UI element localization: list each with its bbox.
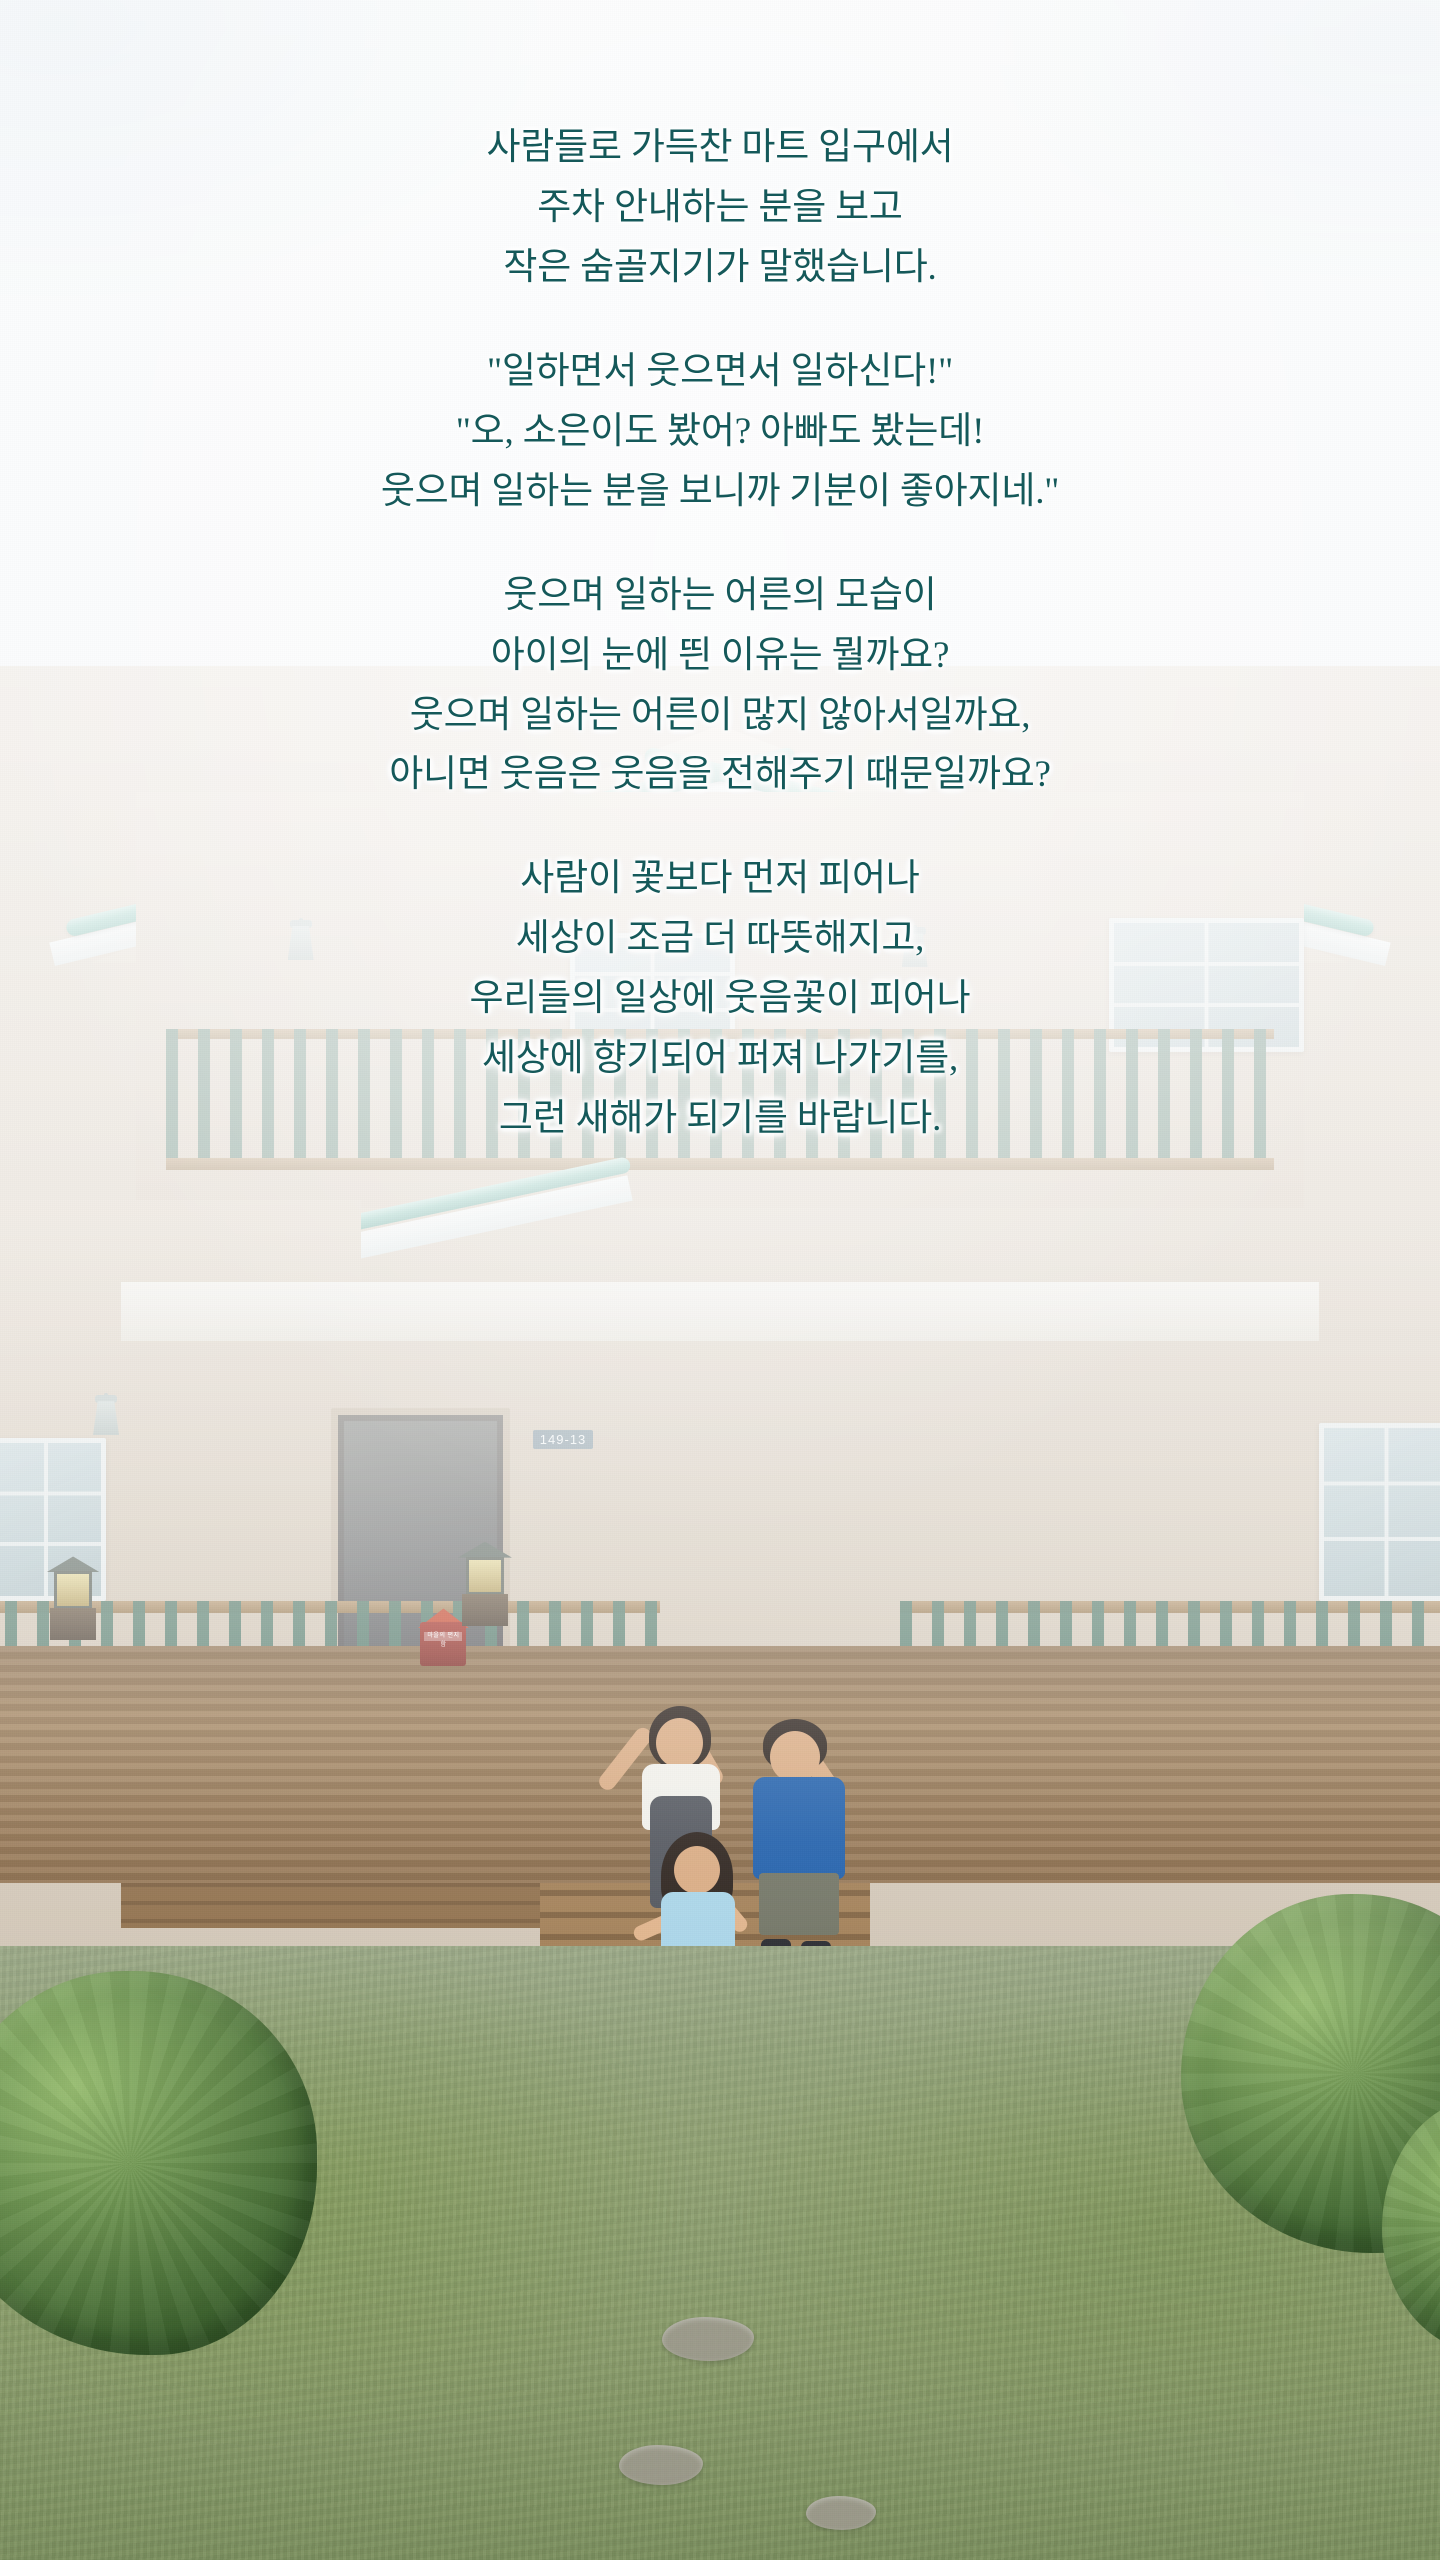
poem-stanza-3: 웃으며 일하는 어른의 모습이 아이의 눈에 띈 이유는 뭘까요? 웃으며 일하… [70,566,1370,806]
mother-head [656,1718,703,1768]
lamp-shade [93,1401,119,1435]
poem-stanza-4: 사람이 꽃보다 먼저 피어나 세상이 조금 더 따뜻해지고, 우리들의 일상에 … [70,849,1370,1149]
lantern-glass [54,1571,92,1609]
poem-line: 사람이 꽃보다 먼저 피어나 [70,849,1370,909]
poem-line: 작은 숨골지기가 말했습니다. [70,238,1370,298]
mailbox-label: 마을의 편지함 [424,1632,462,1641]
poem-overlay: 사람들로 가득찬 마트 입구에서 주차 안내하는 분을 보고 작은 숨골지기가 … [0,0,1440,1149]
house-number-plate: 149-13 [533,1430,593,1449]
photo-card: 149-13 [0,0,1440,2560]
lantern-cap [46,1556,100,1572]
post-lantern-left [46,1556,100,1642]
poem-line: 사람들로 가득찬 마트 입구에서 [70,118,1370,178]
poem-line: 아니면 웃음은 웃음을 전해주기 때문일까요? [70,745,1370,805]
wall-lamp-ground-left [91,1393,121,1445]
lantern-post [462,1594,508,1626]
father-head [770,1731,820,1783]
lantern-post [50,1608,96,1640]
poem-line: 웃으며 일하는 어른이 많지 않아서일까요, [70,686,1370,746]
poem-line: "일하면서 웃으면서 일하신다!" [70,342,1370,402]
poem-line: 주차 안내하는 분을 보고 [70,178,1370,238]
person-father [739,1715,859,1951]
poem-stanza-2: "일하면서 웃으면서 일하신다!" "오, 소은이도 봤어? 아빠도 봤는데! … [70,342,1370,522]
poem-line: 아이의 눈에 띈 이유는 뭘까요? [70,626,1370,686]
poem-line: 세상이 조금 더 따뜻해지고, [70,909,1370,969]
poem-line: "오, 소은이도 봤어? 아빠도 봤는데! [70,402,1370,462]
stepping-stone-2 [619,2445,703,2485]
post-lantern-center [458,1542,512,1628]
poem-stanza-1: 사람들로 가득찬 마트 입구에서 주차 안내하는 분을 보고 작은 숨골지기가 … [70,118,1370,298]
poem-line: 웃으며 일하는 분을 보니까 기분이 좋아지네." [70,462,1370,522]
poem-line: 그런 새해가 되기를 바랍니다. [70,1089,1370,1149]
poem-line: 우리들의 일상에 웃음꽃이 피어나 [70,969,1370,1029]
ground-window-right [1319,1423,1440,1601]
lantern-cap [458,1542,512,1558]
poem-line: 웃으며 일하는 어른의 모습이 [70,566,1370,626]
stepping-stone-1 [662,2317,754,2361]
father-blue-polo [753,1777,845,1879]
father-camo-shorts [759,1873,839,1935]
lantern-glass [466,1557,504,1595]
porch-ceiling [121,1282,1319,1341]
railing-bottom-beam [166,1158,1274,1170]
poem-line: 세상에 향기되어 퍼져 나가기를, [70,1029,1370,1089]
